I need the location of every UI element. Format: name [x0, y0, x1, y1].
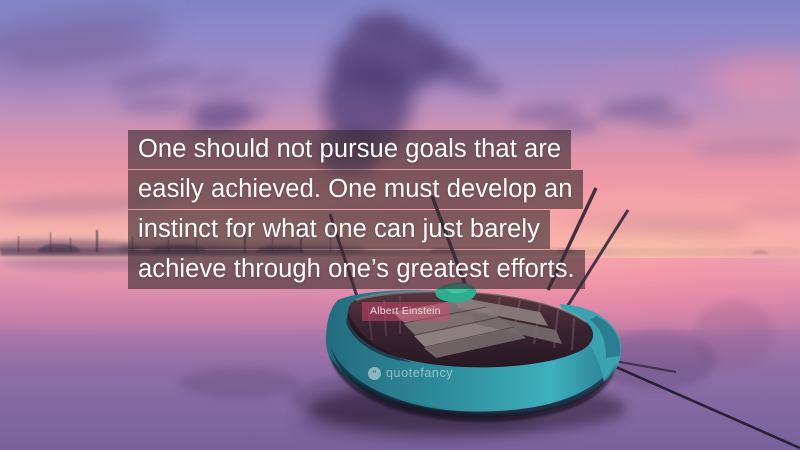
quote-text-block: One should not pursue goals that are eas…	[128, 130, 688, 290]
cloud-puff-left-low	[118, 96, 188, 112]
quote-line-2: easily achieved. One must develop an	[128, 170, 583, 209]
quote-line-1: One should not pursue goals that are	[128, 130, 571, 169]
cloud-puff-detached	[190, 100, 250, 128]
watermark-label: quotefancy	[386, 367, 453, 380]
quote-poster: One should not pursue goals that are eas…	[0, 0, 800, 450]
water-reflection-blob-c	[420, 382, 530, 416]
quote-line-4: achieve through one’s greatest efforts.	[128, 250, 585, 289]
pier-post-1	[18, 236, 19, 252]
far-boat-edge-right	[752, 250, 768, 254]
cloud-right-d	[636, 112, 694, 127]
watermark: “ quotefancy	[368, 367, 453, 380]
water-reflection-blob-b	[290, 376, 420, 420]
cloud-main-top-nub	[352, 14, 404, 40]
quote-mark-icon: “	[368, 367, 381, 380]
pier-post-4	[96, 230, 98, 252]
water-reflection-blob-a	[180, 368, 300, 398]
quote-author-badge: Albert Einstein	[362, 302, 449, 321]
quote-line-3: instinct for what one can just barely	[128, 210, 550, 249]
water-reflection-streak-right	[694, 300, 774, 370]
far-boat-left	[38, 244, 80, 253]
